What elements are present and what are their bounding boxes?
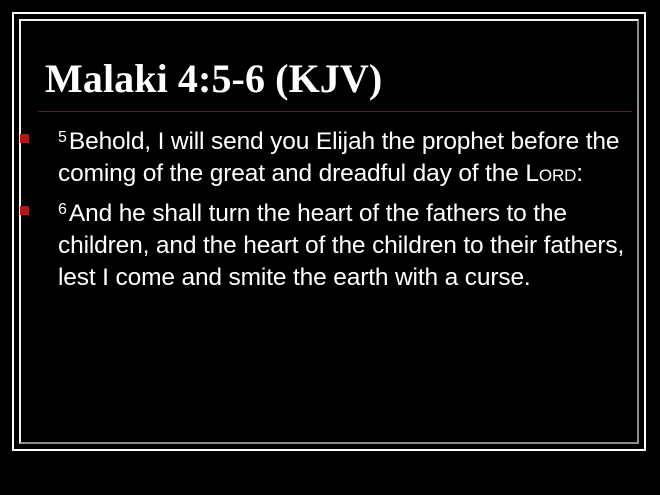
verse-text: And he shall turn the heart of the fathe… bbox=[58, 200, 624, 291]
scripture-bullet-list: 5Behold, I will send you Elijah the prop… bbox=[38, 122, 634, 294]
verse-number: 5 bbox=[58, 129, 69, 146]
presentation-slide: Malaki 4:5-6 (KJV) 5Behold, I will send … bbox=[0, 0, 660, 495]
list-item: 5Behold, I will send you Elijah the prop… bbox=[38, 122, 634, 190]
verse-text-tail: : bbox=[576, 160, 583, 187]
list-item: 6And he shall turn the heart of the fath… bbox=[38, 194, 634, 294]
title-divider bbox=[38, 111, 632, 112]
red-square-bullet-icon bbox=[20, 134, 29, 143]
red-square-bullet-icon bbox=[20, 206, 29, 215]
lord-small-caps: Lord bbox=[525, 160, 576, 187]
page-title: Malaki 4:5-6 (KJV) bbox=[45, 56, 634, 102]
slide-content: Malaki 4:5-6 (KJV) 5Behold, I will send … bbox=[38, 56, 634, 426]
verse-number: 6 bbox=[58, 201, 69, 218]
